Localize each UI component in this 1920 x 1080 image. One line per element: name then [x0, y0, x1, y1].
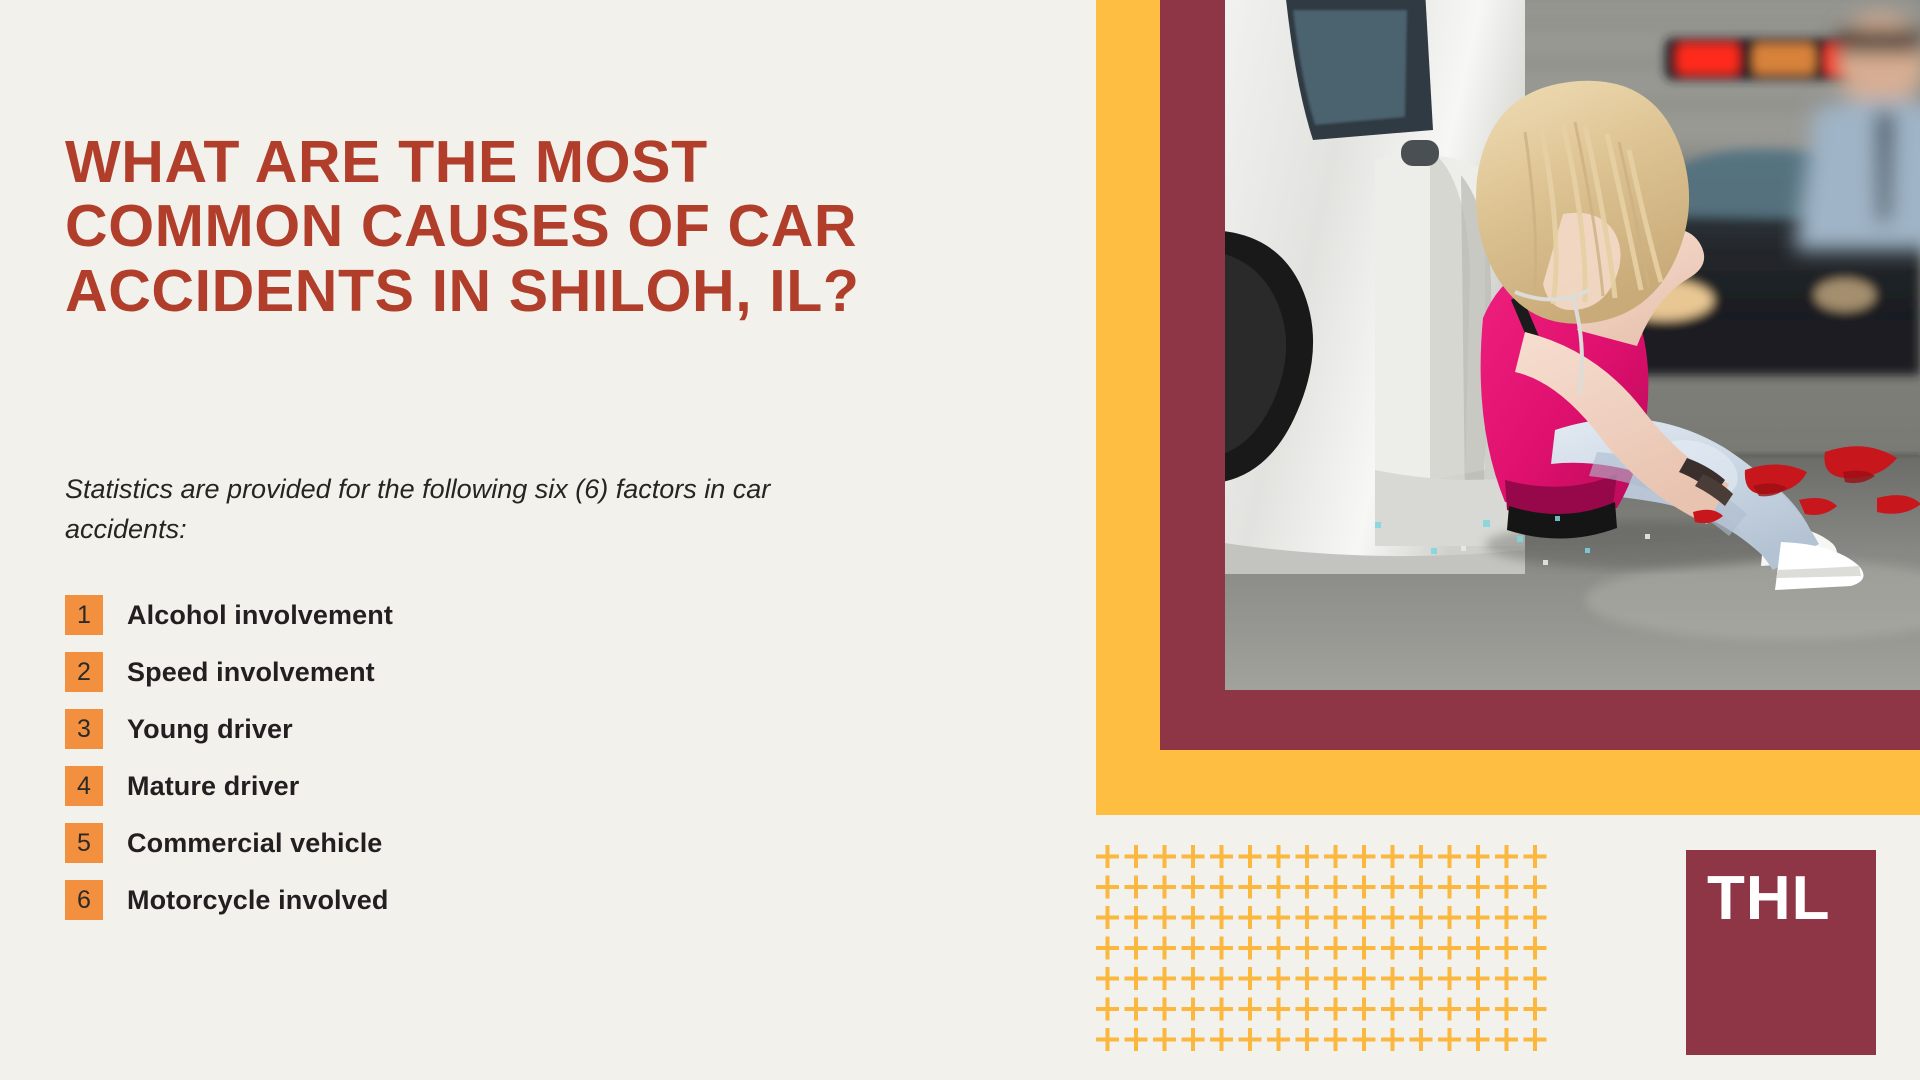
- list-item: 2Speed involvement: [65, 652, 765, 692]
- list-item: 4Mature driver: [65, 766, 765, 806]
- factor-number-badge: 4: [65, 766, 103, 806]
- page-title: WHAT ARE THE MOST COMMON CAUSES OF CAR A…: [65, 130, 965, 323]
- list-item: 1Alcohol involvement: [65, 595, 765, 635]
- factor-label: Commercial vehicle: [127, 828, 382, 859]
- factor-label: Mature driver: [127, 771, 299, 802]
- factor-number-badge: 3: [65, 709, 103, 749]
- thl-logo-text: THL: [1707, 868, 1831, 930]
- factor-label: Speed involvement: [127, 657, 375, 688]
- infographic-slide: WHAT ARE THE MOST COMMON CAUSES OF CAR A…: [0, 0, 1920, 1080]
- factor-label: Motorcycle involved: [127, 885, 388, 916]
- factor-number-badge: 6: [65, 880, 103, 920]
- factor-number-badge: 1: [65, 595, 103, 635]
- accident-scene-photo: [1225, 0, 1920, 690]
- left-content-panel: WHAT ARE THE MOST COMMON CAUSES OF CAR A…: [0, 0, 1090, 1080]
- plus-pattern: [1096, 845, 1551, 1060]
- thl-logo: THL: [1686, 850, 1876, 1055]
- list-item: 3Young driver: [65, 709, 765, 749]
- factor-label: Alcohol involvement: [127, 600, 393, 631]
- factor-number-badge: 5: [65, 823, 103, 863]
- list-item: 6Motorcycle involved: [65, 880, 765, 920]
- factor-list: 1Alcohol involvement2Speed involvement3Y…: [65, 595, 765, 937]
- subtitle-text: Statistics are provided for the followin…: [65, 470, 805, 549]
- factor-number-badge: 2: [65, 652, 103, 692]
- factor-label: Young driver: [127, 714, 293, 745]
- list-item: 5Commercial vehicle: [65, 823, 765, 863]
